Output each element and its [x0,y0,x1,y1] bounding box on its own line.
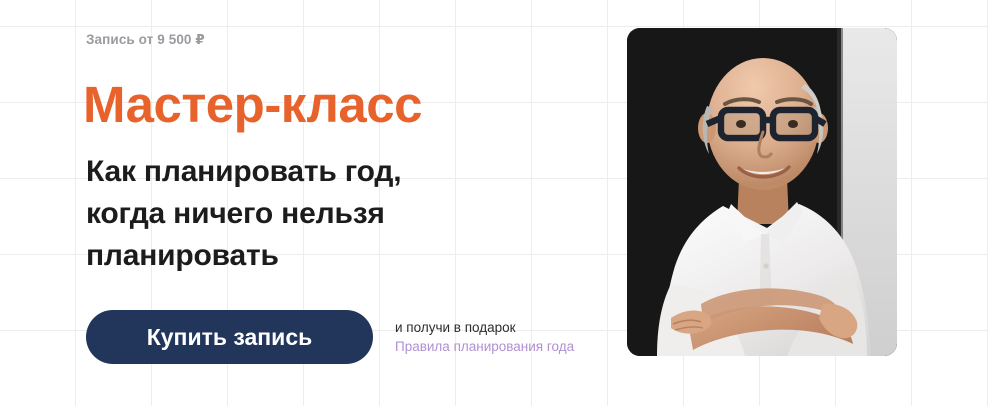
hero-subtitle: Как планировать год, когда ничего нельзя… [86,151,506,277]
subtitle-line-1: Как планировать год, [86,151,506,193]
subtitle-line-2: когда ничего нельзя [86,193,506,235]
buy-recording-button[interactable]: Купить запись [86,310,373,364]
page-title: Мастер-класс [83,77,422,133]
hero-section: Запись от 9 500 ₽ Мастер-класс Как плани… [0,0,988,406]
gift-rules-link[interactable]: Правила планирования года [395,337,574,356]
cta-row: Купить запись и получи в подарок Правила… [86,310,574,364]
gift-caption: и получи в подарок [395,318,574,337]
gift-block: и получи в подарок Правила планирования … [395,318,574,356]
hero-content-column: Запись от 9 500 ₽ Мастер-класс Как плани… [86,0,616,406]
speaker-portrait-photo [627,28,897,356]
price-eyebrow: Запись от 9 500 ₽ [86,32,205,48]
speaker-photo [627,28,897,356]
subtitle-line-3: планировать [86,235,506,277]
